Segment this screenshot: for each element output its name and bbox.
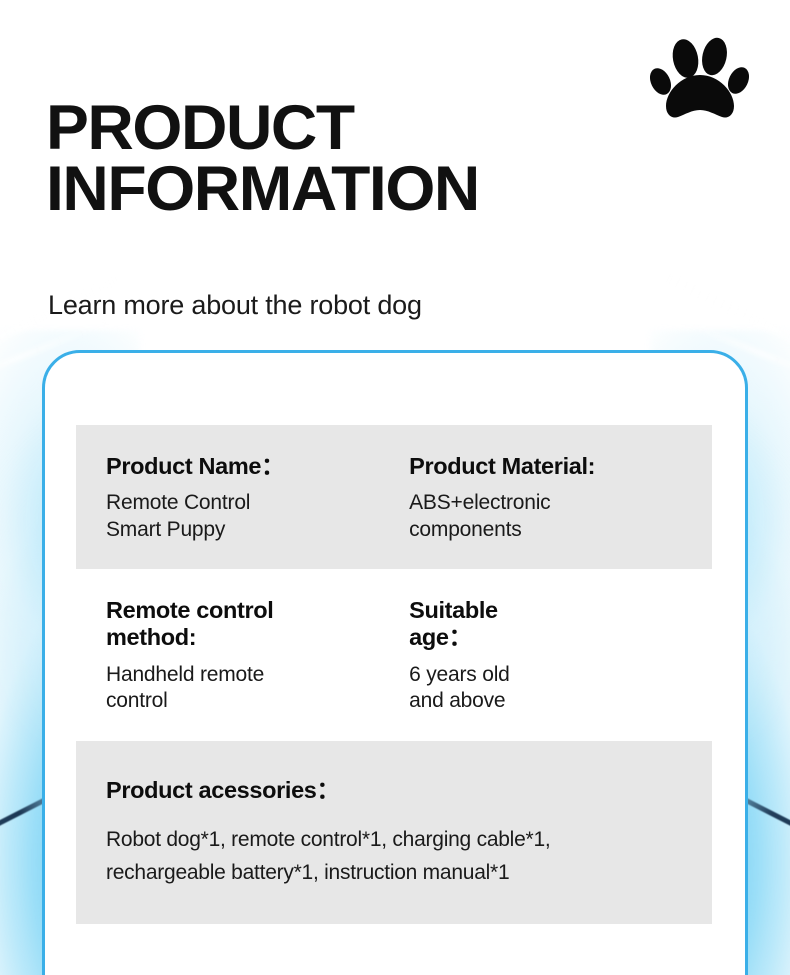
spec-value: Remote Control Smart Puppy bbox=[106, 490, 395, 543]
spec-cell: Product Material: ABS+electronic compone… bbox=[409, 453, 682, 543]
spec-cell: Remote control method: Handheld remote c… bbox=[106, 597, 409, 714]
accessories-label: Product acessories： bbox=[106, 771, 682, 805]
page-subtitle: Learn more about the robot dog bbox=[48, 290, 422, 321]
spec-value: ABS+electronic components bbox=[409, 490, 682, 543]
spec-value: Handheld remote control bbox=[106, 662, 395, 715]
product-information-page: PRODUCT INFORMATION Learn more about the… bbox=[0, 0, 790, 975]
spec-label: Remote control method: bbox=[106, 597, 395, 652]
accessories-row: Product acessories： Robot dog*1, remote … bbox=[76, 741, 712, 924]
spec-cell: Suitable age： 6 years old and above bbox=[409, 597, 682, 714]
accessories-value: Robot dog*1, remote control*1, charging … bbox=[106, 823, 682, 890]
spec-label: Product Material: bbox=[409, 453, 682, 480]
spec-cell: Product Name： Remote Control Smart Puppy bbox=[106, 453, 409, 543]
spec-label: Suitable age： bbox=[409, 597, 682, 652]
spec-label: Product Name： bbox=[106, 453, 395, 480]
spec-value: 6 years old and above bbox=[409, 662, 682, 715]
page-header: PRODUCT INFORMATION Learn more about the… bbox=[0, 0, 790, 350]
page-title: PRODUCT INFORMATION bbox=[46, 98, 760, 220]
spec-row: Product Name： Remote Control Smart Puppy… bbox=[76, 425, 712, 569]
spec-row: Remote control method: Handheld remote c… bbox=[76, 569, 712, 740]
spec-table: Product Name： Remote Control Smart Puppy… bbox=[76, 425, 712, 924]
